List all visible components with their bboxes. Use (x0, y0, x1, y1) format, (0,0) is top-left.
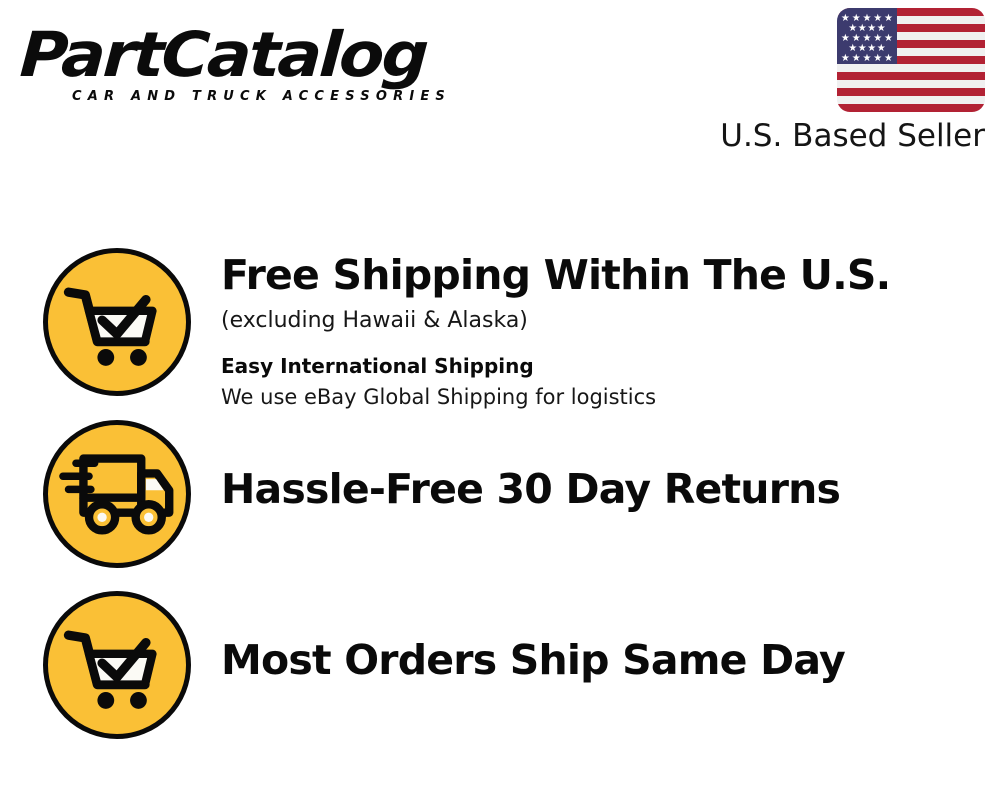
feature-note: (excluding Hawaii & Alaska) (221, 304, 1000, 338)
feature-heading: Hassle-Free 30 Day Returns (221, 464, 1000, 514)
shopping-cart-check-icon-glyph (48, 596, 186, 734)
shopping-cart-check-icon-glyph (48, 253, 186, 391)
feature-row: Free Shipping Within The U.S. (excluding… (0, 248, 1000, 413)
shopping-cart-check-icon (43, 591, 191, 739)
brand-wordmark: PartCatalog (18, 22, 520, 88)
delivery-truck-icon (43, 420, 191, 568)
feature-sub-title: Easy International Shipping (221, 351, 1000, 381)
seller-label: U.S. Based Seller (715, 118, 985, 154)
flag-canton: ★★★★★ ★★★★ ★★★★★ ★★★★ ★★★★★ (837, 8, 897, 64)
feature-heading: Free Shipping Within The U.S. (221, 250, 1000, 300)
feature-text: Free Shipping Within The U.S. (excluding… (191, 248, 1000, 413)
us-flag-icon: ★★★★★ ★★★★ ★★★★★ ★★★★ ★★★★★ (837, 8, 985, 112)
feature-text: Hassle-Free 30 Day Returns (191, 420, 1000, 514)
feature-heading: Most Orders Ship Same Day (221, 635, 1000, 685)
feature-text: Most Orders Ship Same Day (191, 591, 1000, 685)
brand-tagline: CAR AND TRUCK ACCESSORIES (72, 89, 492, 104)
feature-sub-text: We use eBay Global Shipping for logistic… (221, 382, 1000, 413)
feature-row: Most Orders Ship Same Day (0, 591, 1000, 739)
partcatalog-logo[interactable]: PartCatalog CAR AND TRUCK ACCESSORIES (22, 22, 492, 114)
us-based-seller-badge: ★★★★★ ★★★★ ★★★★★ ★★★★ ★★★★★ U.S. Based S… (715, 8, 985, 154)
feature-row: Hassle-Free 30 Day Returns (0, 420, 1000, 568)
delivery-truck-icon-glyph (48, 425, 186, 563)
shopping-cart-check-icon (43, 248, 191, 396)
